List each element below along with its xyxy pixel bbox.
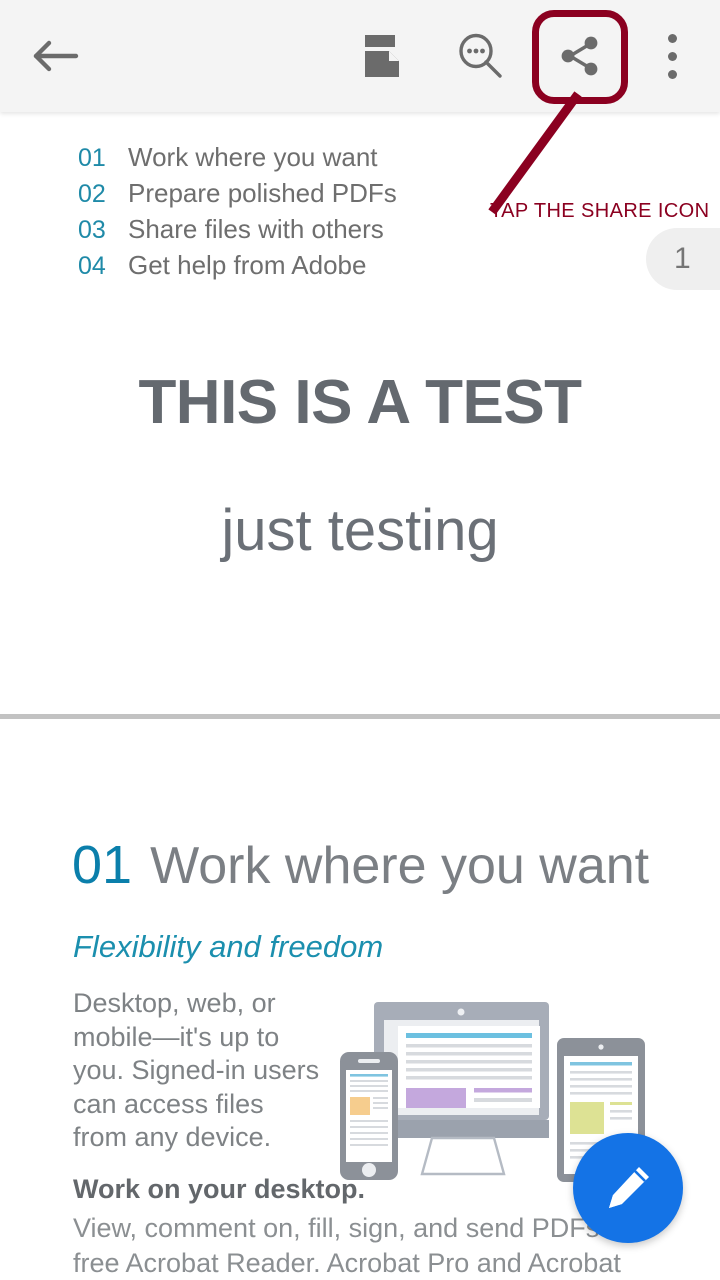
back-arrow-icon: [33, 39, 79, 73]
table-of-contents: 01 Work where you want 02 Prepare polish…: [78, 142, 397, 286]
view-mode-icon: [362, 34, 402, 78]
list-item: 04 Get help from Adobe: [78, 250, 397, 286]
edit-fab-button[interactable]: [573, 1133, 683, 1243]
overflow-menu-icon: [668, 34, 677, 79]
share-icon: [557, 33, 603, 79]
toc-number: 01: [78, 144, 116, 173]
section-title: Work where you want: [150, 836, 649, 896]
app-screen: TAP THE SHARE ICON 1 01 Work where you w…: [0, 0, 720, 1280]
more-options-button[interactable]: [644, 24, 700, 88]
section-subheading: Flexibility and freedom: [73, 929, 383, 965]
section-footer-heading: Work on your desktop.: [73, 1174, 365, 1205]
toc-label: Get help from Adobe: [128, 250, 366, 281]
annotation-label: TAP THE SHARE ICON: [490, 198, 720, 224]
section-body-text: Desktop, web, or mobile—it's up to you. …: [73, 987, 323, 1155]
search-button[interactable]: [446, 24, 514, 88]
section-number: 01: [72, 834, 132, 896]
toc-number: 04: [78, 252, 116, 281]
search-icon: [457, 33, 503, 79]
list-item: 03 Share files with others: [78, 214, 397, 250]
toc-number: 03: [78, 216, 116, 245]
top-toolbar: [0, 0, 720, 112]
page-indicator[interactable]: 1: [646, 228, 720, 290]
toc-label: Work where you want: [128, 142, 378, 173]
page-indicator-value: 1: [674, 242, 691, 276]
back-button[interactable]: [20, 26, 92, 86]
document-title: THIS IS A TEST: [0, 367, 720, 438]
document-subtitle: just testing: [0, 497, 720, 564]
section-heading: 01 Work where you want: [72, 834, 649, 896]
list-item: 01 Work where you want: [78, 142, 397, 178]
toc-number: 02: [78, 180, 116, 209]
list-item: 02 Prepare polished PDFs: [78, 178, 397, 214]
pencil-icon: [602, 1162, 654, 1214]
toc-label: Share files with others: [128, 214, 384, 245]
view-mode-button[interactable]: [350, 24, 414, 88]
section-footer-text: View, comment on, fill, sign, and send P…: [73, 1211, 673, 1280]
toc-label: Prepare polished PDFs: [128, 178, 397, 209]
page-separator: [0, 714, 720, 719]
share-button[interactable]: [546, 22, 614, 90]
